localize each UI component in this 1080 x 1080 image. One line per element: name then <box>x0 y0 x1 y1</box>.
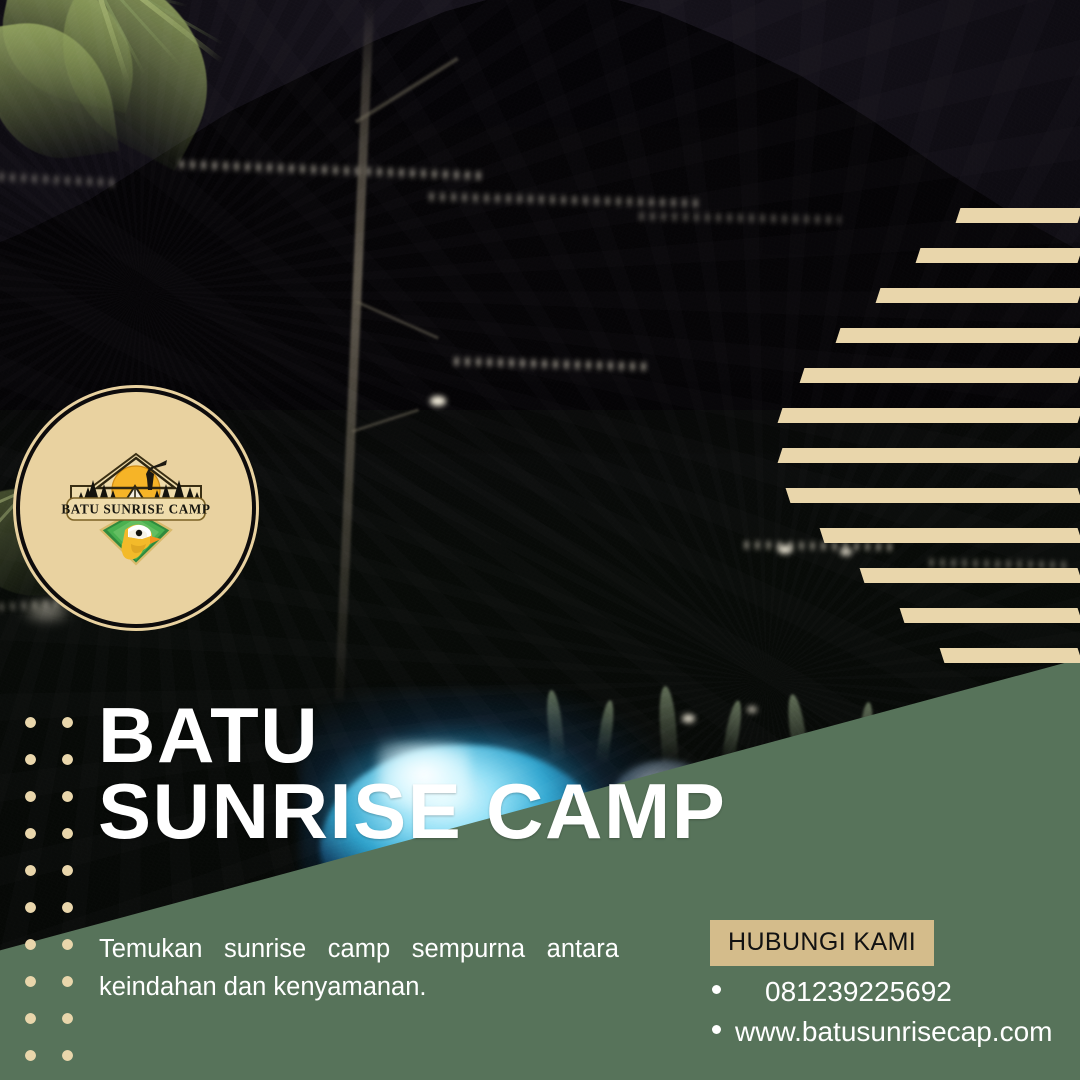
poster-canvas: BATU SUNRISE CAMP BATU SUNRISE CAMP Temu… <box>0 0 1080 1080</box>
page-title: BATU SUNRISE CAMP <box>98 698 975 849</box>
logo-wordmark: BATU SUNRISE CAMP <box>61 502 210 517</box>
decor-diagonal-stripes <box>780 190 1080 690</box>
bullet-icon <box>712 985 721 994</box>
headline-line-2: SUNRISE CAMP <box>98 774 975 850</box>
mountain-camp-eagle-emblem-icon: BATU SUNRISE CAMP <box>51 446 221 570</box>
brand-logo-badge[interactable]: BATU SUNRISE CAMP <box>20 392 252 624</box>
tagline: Temukan sunrise camp sempurna antara kei… <box>99 930 619 1008</box>
contact-phone[interactable]: 081239225692 <box>765 972 952 1012</box>
headline-line-1: BATU <box>98 691 319 779</box>
list-item: 081239225692 <box>712 972 1080 1012</box>
contact-heading-badge: HUBUNGI KAMI <box>710 920 934 966</box>
contact-website[interactable]: www.batusunrisecap.com <box>735 1012 1052 1052</box>
contact-list: 081239225692 www.batusunrisecap.com <box>712 972 1080 1052</box>
decor-dot-grid <box>8 700 94 1078</box>
list-item: www.batusunrisecap.com <box>712 1012 1080 1052</box>
bullet-icon <box>712 1025 721 1034</box>
